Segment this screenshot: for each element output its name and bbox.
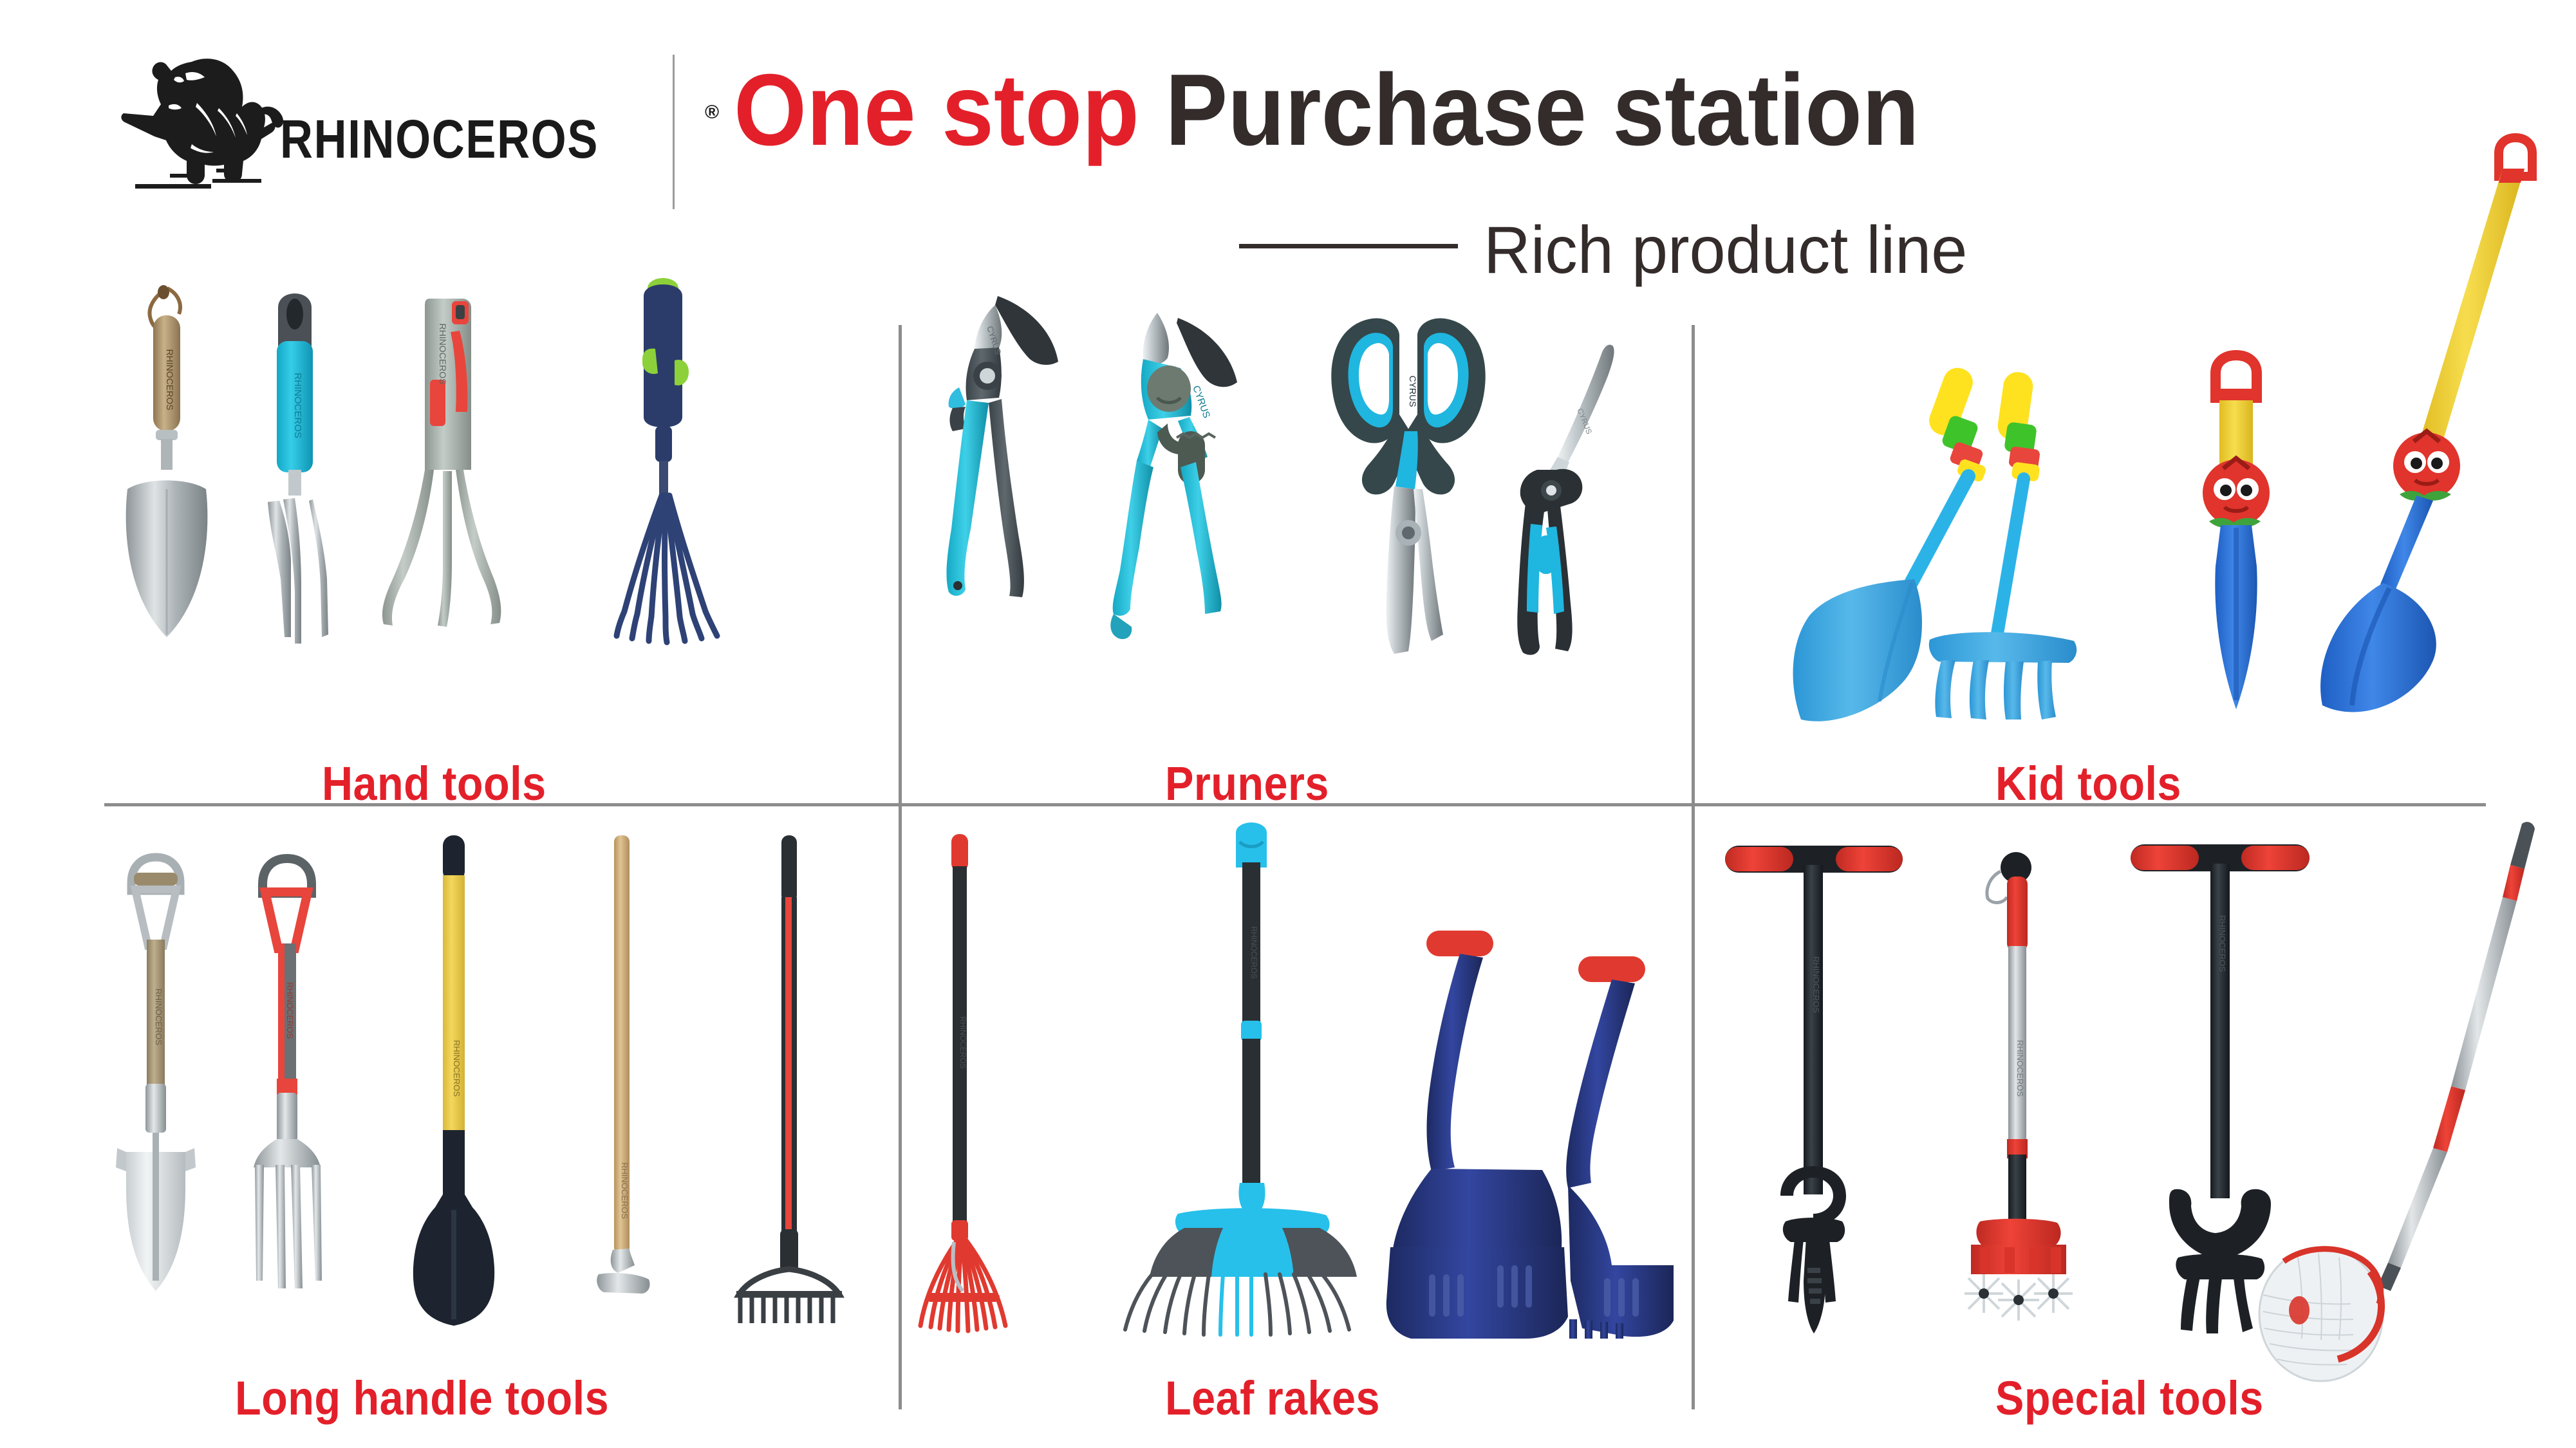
svg-text:RHINOCEROS: RHINOCEROS bbox=[452, 1040, 462, 1097]
svg-text:RHINOCEROS: RHINOCEROS bbox=[165, 349, 175, 411]
svg-text:RHINOCEROS: RHINOCEROS bbox=[292, 373, 303, 438]
tool-garden-hoe: RHINOCEROS bbox=[597, 835, 649, 1294]
tool-kid-shovel-mascot bbox=[2320, 138, 2532, 712]
special-tools-artwork: RHINOCEROS bbox=[1719, 817, 2555, 1339]
header-divider bbox=[673, 55, 675, 209]
pruners-artwork: CYRUS bbox=[920, 277, 1674, 727]
svg-text:RHINOCEROS: RHINOCEROS bbox=[620, 1162, 630, 1219]
category-cell-pruners[interactable]: CYRUS bbox=[920, 277, 1674, 727]
brand-wordmark: RHINOCEROS bbox=[280, 108, 599, 171]
tool-bulb-planter-auger: RHINOCEROS bbox=[1725, 846, 1903, 1333]
svg-text:RHINOCEROS: RHINOCEROS bbox=[438, 324, 448, 385]
svg-text:RHINOCEROS: RHINOCEROS bbox=[1811, 956, 1821, 1013]
category-label-leaf-rakes: Leaf rakes bbox=[1165, 1371, 1380, 1425]
category-label-hand-tools: Hand tools bbox=[322, 756, 546, 811]
svg-text:RHINOCEROS: RHINOCEROS bbox=[154, 989, 163, 1045]
tool-adjustable-leaf-rake: RHINOCEROS bbox=[1125, 822, 1357, 1335]
category-cell-hand-tools[interactable]: RHINOCEROS RHINOCEROS bbox=[116, 277, 875, 727]
tomato-mascot-icon bbox=[2203, 458, 2270, 528]
tool-bow-rake bbox=[736, 835, 842, 1323]
tool-hand-fork: RHINOCEROS bbox=[268, 293, 328, 644]
tool-leaf-grabber-scoops bbox=[1386, 931, 1761, 1339]
grid-divider-vertical-right bbox=[1692, 325, 1695, 1409]
tool-kid-trowel-mascot bbox=[2203, 355, 2270, 709]
category-cell-long-handle-tools[interactable]: RHINOCEROS bbox=[103, 830, 882, 1326]
grid-divider-vertical-left bbox=[899, 325, 902, 1409]
category-cell-kid-tools[interactable] bbox=[1719, 129, 2555, 727]
svg-text:RHINOCEROS: RHINOCEROS bbox=[285, 982, 295, 1039]
category-cell-special-tools[interactable]: RHINOCEROS bbox=[1719, 817, 2555, 1339]
tool-bypass-pruner-gray: CYRUS bbox=[947, 296, 1058, 597]
category-label-special-tools: Special tools bbox=[1995, 1371, 2264, 1425]
category-label-pruners: Pruners bbox=[1165, 756, 1329, 811]
tool-round-point-shovel: RHINOCEROS bbox=[413, 835, 494, 1326]
product-category-banner: RHINOCEROS ® One stop Purchase station R… bbox=[0, 0, 2576, 1448]
leaf-rakes-artwork: RHINOCEROS bbox=[920, 830, 1674, 1339]
svg-text:CYRUS: CYRUS bbox=[1190, 384, 1212, 420]
rhinoceros-logo-icon bbox=[116, 46, 290, 201]
tool-twist-tiller: RHINOCEROS bbox=[2131, 844, 2310, 1333]
tool-kid-trowel bbox=[1793, 364, 1988, 721]
category-cell-leaf-rakes[interactable]: RHINOCEROS bbox=[920, 830, 1674, 1339]
tool-hand-cultivator: RHINOCEROS bbox=[382, 299, 501, 627]
subtitle-dash-icon bbox=[1239, 244, 1458, 248]
tool-nut-gatherer bbox=[2259, 822, 2535, 1381]
tool-digging-fork: RHINOCEROS bbox=[254, 859, 322, 1288]
svg-text:RHINOCEROS: RHINOCEROS bbox=[958, 1016, 967, 1068]
category-label-long-handle-tools: Long handle tools bbox=[235, 1371, 609, 1425]
long-handle-tools-artwork: RHINOCEROS bbox=[103, 830, 882, 1326]
tool-digging-spade: RHINOCEROS bbox=[116, 857, 196, 1291]
svg-text:RHINOCEROS: RHINOCEROS bbox=[1249, 926, 1258, 978]
tool-thinning-snip: CYRUS bbox=[1517, 345, 1614, 655]
tomato-mascot-icon-2 bbox=[2393, 431, 2460, 501]
tool-rotary-cultivator: RHINOCEROS bbox=[1965, 852, 2073, 1321]
svg-text:RHINOCEROS: RHINOCEROS bbox=[2217, 915, 2227, 972]
headline-highlight: One stop bbox=[734, 53, 1139, 167]
kid-tools-artwork bbox=[1719, 129, 2555, 727]
category-label-kid-tools: Kid tools bbox=[1995, 756, 2181, 811]
tool-hand-trowel: RHINOCEROS bbox=[126, 285, 208, 637]
registered-trademark-icon: ® bbox=[705, 102, 719, 124]
svg-text:CYRUS: CYRUS bbox=[1408, 375, 1418, 407]
svg-text:RHINOCEROS: RHINOCEROS bbox=[2015, 1040, 2025, 1097]
brand-logo: RHINOCEROS ® bbox=[116, 46, 644, 201]
tool-hand-shrub-rake bbox=[617, 278, 717, 642]
tool-garden-scissors: CYRUS bbox=[1331, 318, 1485, 654]
tool-bypass-pruner-teal: CYRUS bbox=[1110, 313, 1237, 639]
tool-steel-leaf-rake: RHINOCEROS bbox=[920, 834, 1005, 1331]
hand-tools-artwork: RHINOCEROS RHINOCEROS bbox=[116, 277, 875, 727]
